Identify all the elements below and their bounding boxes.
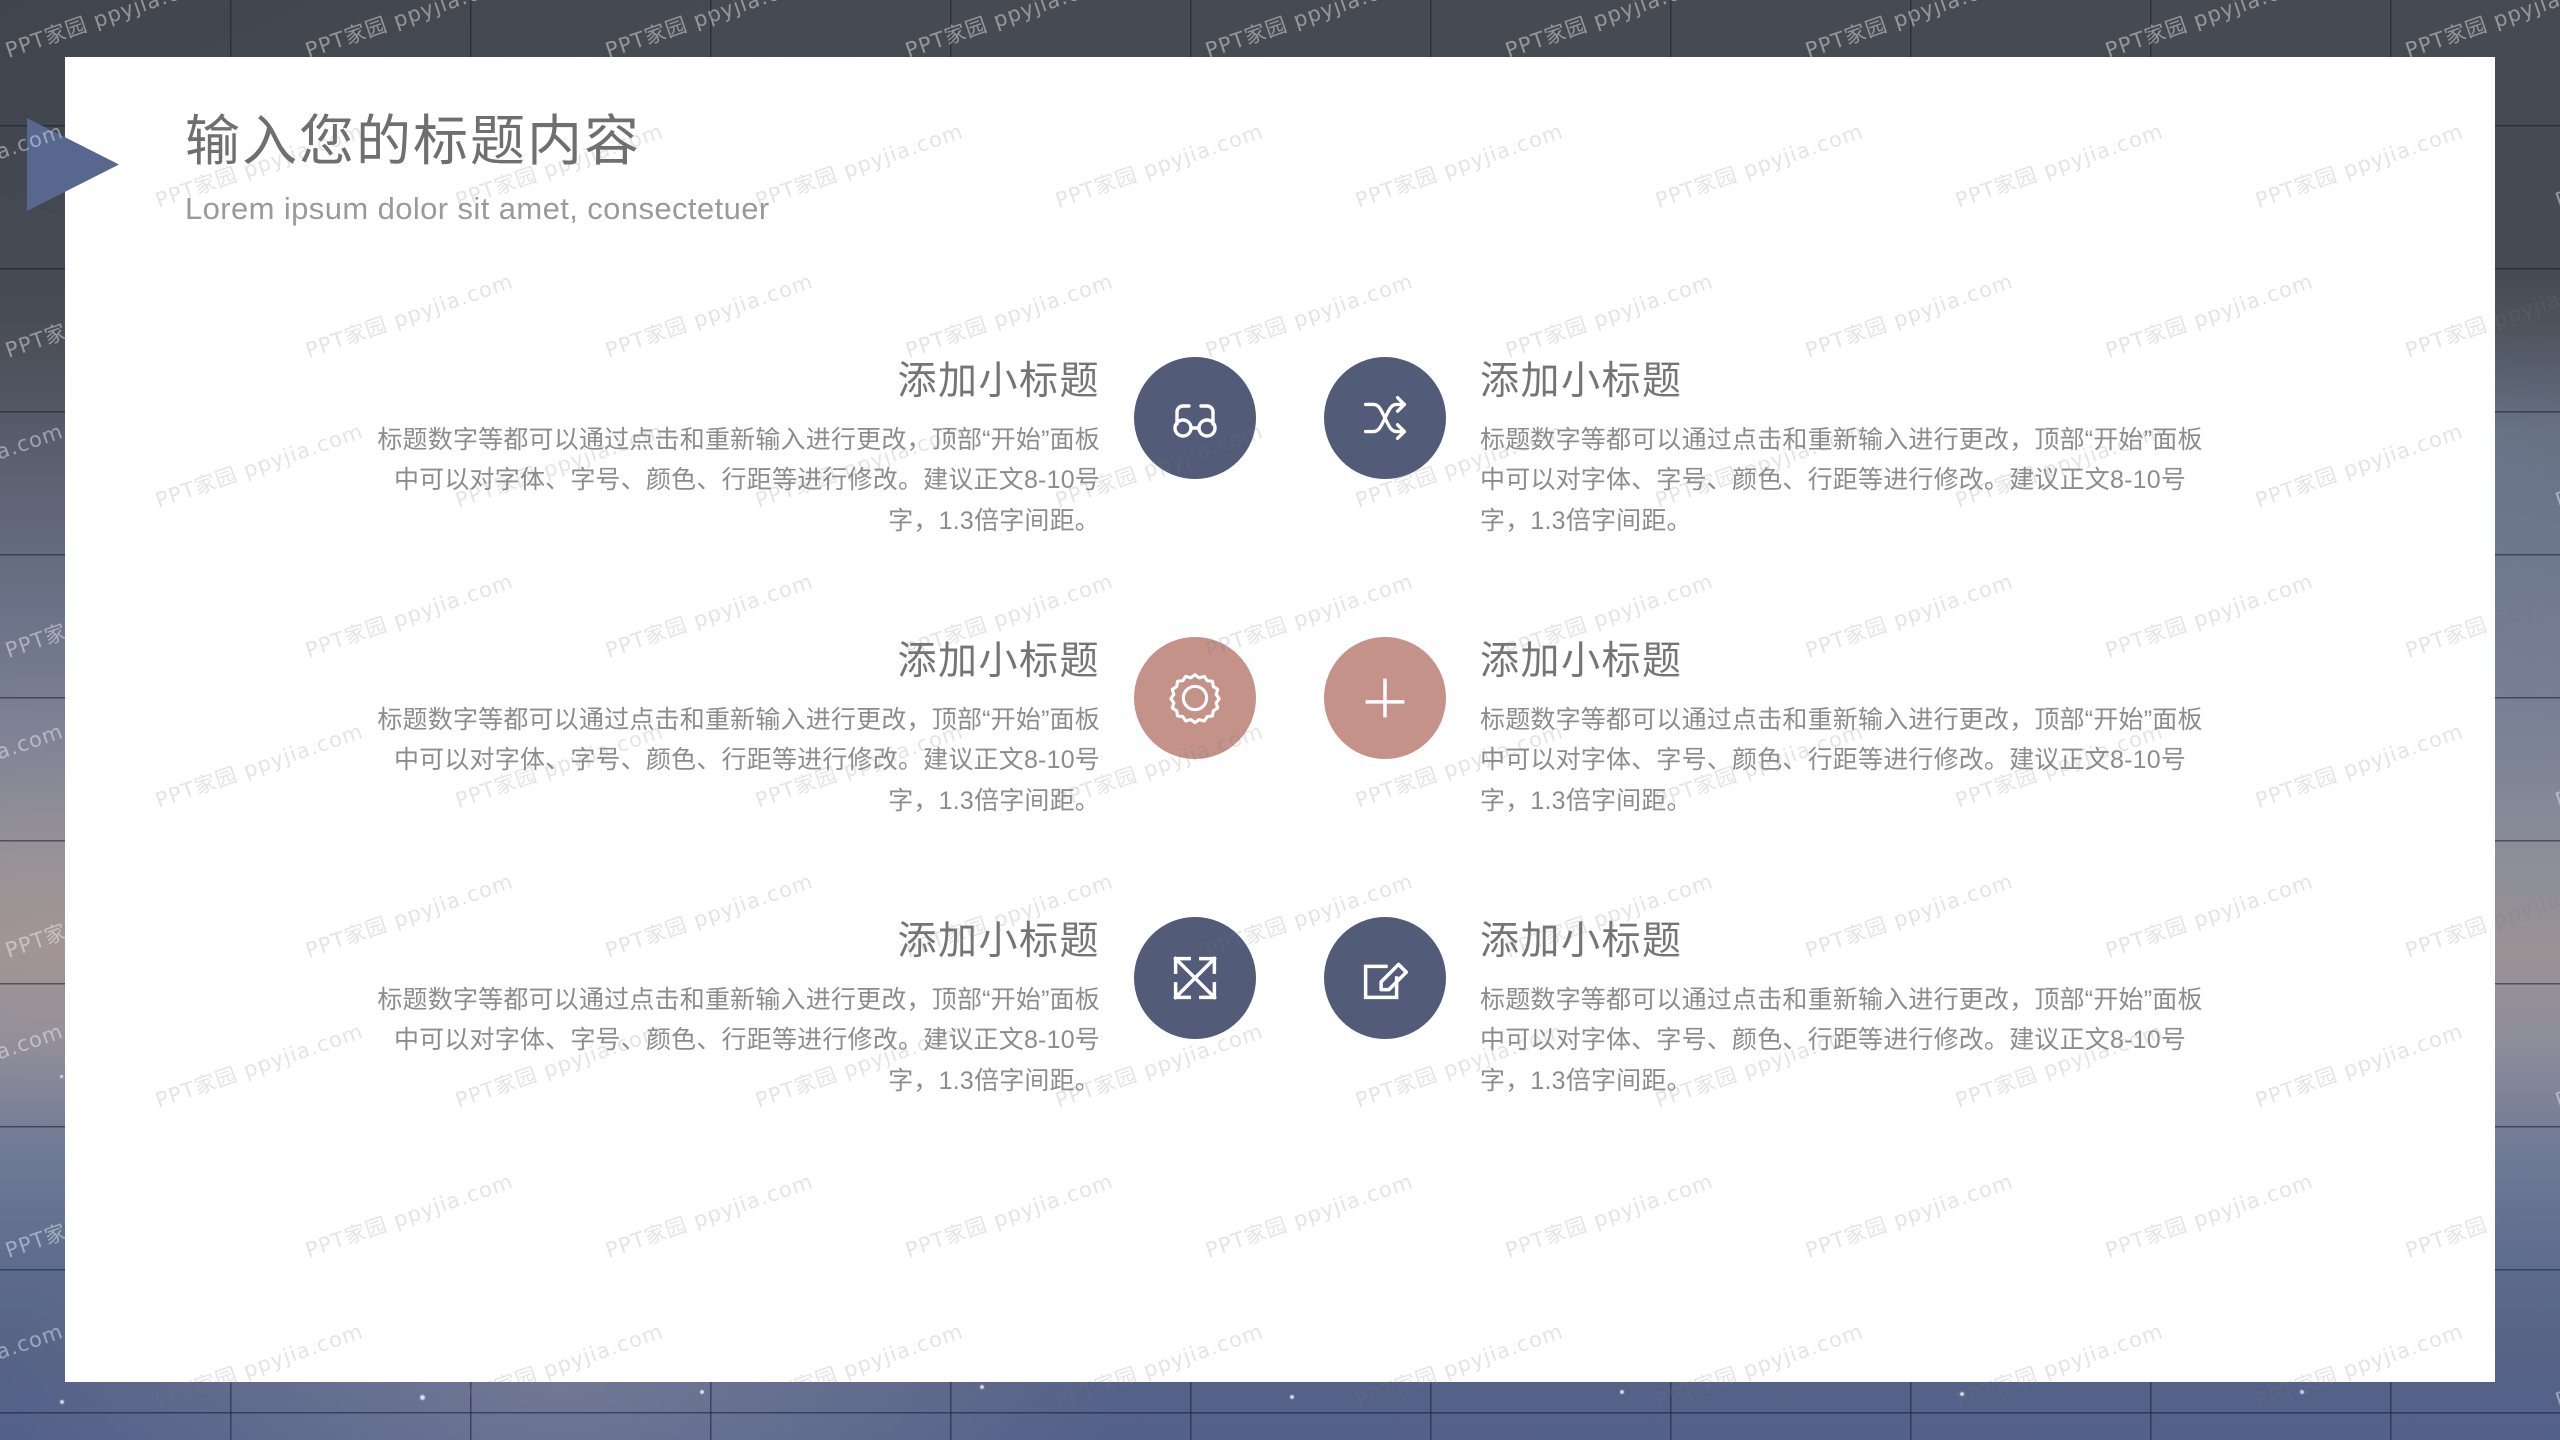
feature-item: 添加小标题标题数字等都可以通过点击和重新输入进行更改，顶部“开始”面板中可以对字… bbox=[160, 635, 1290, 915]
feature-item-heading: 添加小标题 bbox=[360, 919, 1100, 966]
feature-item-icon-circle[interactable] bbox=[1134, 637, 1256, 759]
feature-item: 添加小标题标题数字等都可以通过点击和重新输入进行更改，顶部“开始”面板中可以对字… bbox=[160, 915, 1290, 1195]
feature-item-icon-wrap bbox=[1100, 915, 1290, 1039]
slide-canvas: PPT家园 ppyjia.comPPT家园 ppyjia.comPPT家园 pp… bbox=[0, 0, 2560, 1440]
feature-item-icon-circle[interactable] bbox=[1134, 917, 1256, 1039]
feature-item-body: 标题数字等都可以通过点击和重新输入进行更改，顶部“开始”面板中可以对字体、字号、… bbox=[360, 420, 1100, 542]
feature-item: 添加小标题标题数字等都可以通过点击和重新输入进行更改，顶部“开始”面板中可以对字… bbox=[1290, 355, 2420, 635]
feature-item-body: 标题数字等都可以通过点击和重新输入进行更改，顶部“开始”面板中可以对字体、字号、… bbox=[1480, 980, 2220, 1102]
shuffle-icon bbox=[1354, 387, 1416, 449]
feature-item-icon-wrap bbox=[1290, 635, 1480, 759]
feature-item: 添加小标题标题数字等都可以通过点击和重新输入进行更改，顶部“开始”面板中可以对字… bbox=[1290, 635, 2420, 915]
feature-item-icon-wrap bbox=[1100, 355, 1290, 479]
feature-item-text: 添加小标题标题数字等都可以通过点击和重新输入进行更改，顶部“开始”面板中可以对字… bbox=[1480, 915, 2220, 1101]
gear-icon bbox=[1164, 667, 1226, 729]
feature-item-body: 标题数字等都可以通过点击和重新输入进行更改，顶部“开始”面板中可以对字体、字号、… bbox=[1480, 700, 2220, 822]
header-block: 输入您的标题内容 Lorem ipsum dolor sit amet, con… bbox=[185, 110, 770, 227]
feature-item-icon-circle[interactable] bbox=[1324, 357, 1446, 479]
feature-item-text: 添加小标题标题数字等都可以通过点击和重新输入进行更改，顶部“开始”面板中可以对字… bbox=[360, 355, 1100, 541]
feature-item-icon-wrap bbox=[1290, 355, 1480, 479]
feature-item-icon-wrap bbox=[1100, 635, 1290, 759]
feature-item-body: 标题数字等都可以通过点击和重新输入进行更改，顶部“开始”面板中可以对字体、字号、… bbox=[360, 700, 1100, 822]
feature-item-text: 添加小标题标题数字等都可以通过点击和重新输入进行更改，顶部“开始”面板中可以对字… bbox=[360, 915, 1100, 1101]
edit-note-icon bbox=[1354, 947, 1416, 1009]
feature-item: 添加小标题标题数字等都可以通过点击和重新输入进行更改，顶部“开始”面板中可以对字… bbox=[1290, 915, 2420, 1195]
feature-item-body: 标题数字等都可以通过点击和重新输入进行更改，顶部“开始”面板中可以对字体、字号、… bbox=[1480, 420, 2220, 542]
expand-arrows-icon bbox=[1164, 947, 1226, 1009]
feature-item-text: 添加小标题标题数字等都可以通过点击和重新输入进行更改，顶部“开始”面板中可以对字… bbox=[1480, 355, 2220, 541]
page-title: 输入您的标题内容 bbox=[185, 110, 770, 173]
feature-item-heading: 添加小标题 bbox=[360, 359, 1100, 406]
glasses-icon bbox=[1163, 386, 1227, 450]
feature-item-icon-circle[interactable] bbox=[1324, 917, 1446, 1039]
feature-item-heading: 添加小标题 bbox=[1480, 639, 2220, 686]
feature-item-heading: 添加小标题 bbox=[1480, 919, 2220, 966]
feature-item-icon-circle[interactable] bbox=[1134, 357, 1256, 479]
feature-item-body: 标题数字等都可以通过点击和重新输入进行更改，顶部“开始”面板中可以对字体、字号、… bbox=[360, 980, 1100, 1102]
feature-item-icon-circle[interactable] bbox=[1324, 637, 1446, 759]
feature-item: 添加小标题标题数字等都可以通过点击和重新输入进行更改，顶部“开始”面板中可以对字… bbox=[160, 355, 1290, 635]
feature-item-text: 添加小标题标题数字等都可以通过点击和重新输入进行更改，顶部“开始”面板中可以对字… bbox=[1480, 635, 2220, 821]
plus-icon bbox=[1354, 667, 1416, 729]
feature-item-text: 添加小标题标题数字等都可以通过点击和重新输入进行更改，顶部“开始”面板中可以对字… bbox=[360, 635, 1100, 821]
feature-item-icon-wrap bbox=[1290, 915, 1480, 1039]
feature-item-heading: 添加小标题 bbox=[1480, 359, 2220, 406]
feature-item-heading: 添加小标题 bbox=[360, 639, 1100, 686]
page-subtitle: Lorem ipsum dolor sit amet, consectetuer bbox=[185, 191, 770, 227]
feature-items-grid: 添加小标题标题数字等都可以通过点击和重新输入进行更改，顶部“开始”面板中可以对字… bbox=[160, 355, 2420, 1195]
